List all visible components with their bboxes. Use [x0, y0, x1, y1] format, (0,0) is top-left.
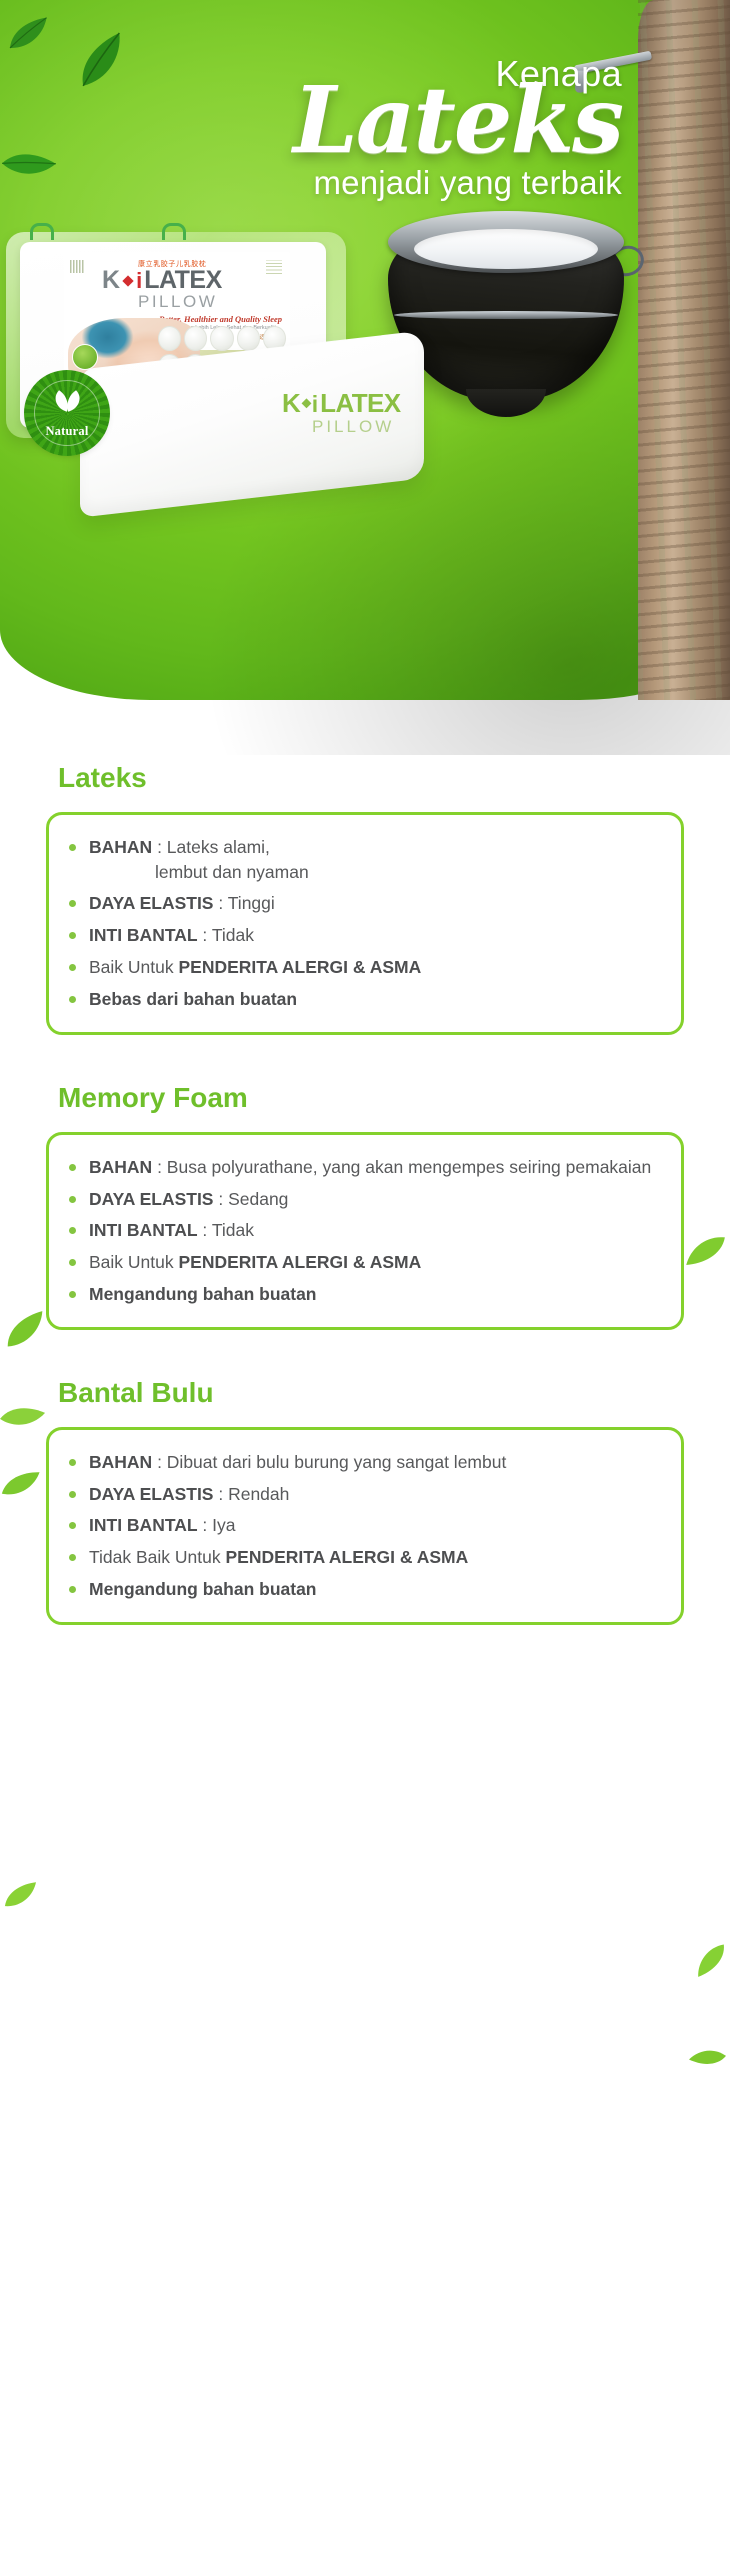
bullet-label: Mengandung bahan buatan [89, 1284, 317, 1304]
section-lateks: Lateks BAHAN : Lateks alami, lembut dan … [0, 755, 730, 1035]
brand-diamond-icon [122, 275, 133, 286]
pillow-brand-diamond-icon [301, 398, 311, 408]
feature-badge-icon [210, 326, 233, 351]
bullet-label: DAYA ELASTIS [89, 1484, 213, 1504]
list-item: DAYA ELASTIS : Tinggi [63, 891, 661, 916]
label-brand-lockup: K i LATEX [102, 268, 222, 293]
bullet-sep: : [152, 1452, 167, 1472]
leaf-icon [687, 2039, 729, 2074]
bullet-value: Sedang [228, 1189, 288, 1209]
bullet-sep: : [198, 925, 212, 945]
bullet-value: Tidak [212, 1220, 254, 1240]
bullet-emphasis: PENDERITA ALERGI & ASMA [178, 957, 421, 977]
bullet-sep: : [198, 1515, 213, 1535]
bullet-list-memory-foam: BAHAN : Busa polyurathane, yang akan men… [63, 1155, 661, 1307]
natural-seal-badge: Natural [28, 374, 106, 452]
bullet-emphasis: PENDERITA ALERGI & ASMA [226, 1547, 469, 1567]
list-item: Mengandung bahan buatan [63, 1282, 661, 1307]
brand-letter-i: i [136, 270, 142, 292]
list-item: INTI BANTAL : Iya [63, 1513, 661, 1538]
hero-title-block: Kenapa Lateks menjadi yang terbaik [0, 56, 640, 201]
list-item: INTI BANTAL : Tidak [63, 1218, 661, 1243]
bullet-value: Baik Untuk [89, 957, 178, 977]
list-item: Mengandung bahan buatan [63, 1577, 661, 1602]
bullet-label: DAYA ELASTIS [89, 1189, 213, 1209]
list-item: Baik Untuk PENDERITA ALERGI & ASMA [63, 955, 661, 980]
section-title-lateks: Lateks [0, 763, 730, 794]
feature-badge-icon [184, 326, 207, 351]
section-bantal-bulu: Bantal Bulu BAHAN : Dibuat dari bulu bur… [0, 1336, 730, 1625]
list-item: Tidak Baik Untuk PENDERITA ALERGI & ASMA [63, 1545, 661, 1570]
bullet-list-lateks: BAHAN : Lateks alami, lembut dan nyaman … [63, 835, 661, 1012]
bullet-value: Lateks alami, [167, 837, 270, 857]
leaf-icon [686, 1937, 730, 1981]
card-lateks: BAHAN : Lateks alami, lembut dan nyaman … [46, 812, 684, 1035]
bullet-sep: : [198, 1220, 212, 1240]
bullet-sep: : [213, 1189, 228, 1209]
brand-letter-k: K [102, 268, 120, 293]
hero-banner: Kenapa Lateks menjadi yang terbaik 康立乳胶子… [0, 0, 730, 755]
list-item: DAYA ELASTIS : Sedang [63, 1187, 661, 1212]
list-item: BAHAN : Busa polyurathane, yang akan men… [63, 1155, 661, 1180]
bullet-value: Iya [212, 1515, 235, 1535]
bullet-value: Tinggi [228, 893, 275, 913]
list-item: Bebas dari bahan buatan [63, 987, 661, 1012]
bullet-label: DAYA ELASTIS [89, 893, 213, 913]
bullet-value-cont: lembut dan nyaman [89, 860, 661, 885]
natural-badge-label: Natural [45, 424, 88, 439]
rubber-tree-trunk [638, 0, 730, 700]
bullet-sep: : [152, 837, 167, 857]
leaf-icon [0, 1878, 43, 1913]
bullet-label: Bebas dari bahan buatan [89, 989, 297, 1009]
list-item: INTI BANTAL : Tidak [63, 923, 661, 948]
label-pattern-icon [70, 260, 85, 273]
card-bantal-bulu: BAHAN : Dibuat dari bulu burung yang san… [46, 1427, 684, 1625]
feature-badge-icon [237, 326, 260, 351]
bullet-list-bantal-bulu: BAHAN : Dibuat dari bulu burung yang san… [63, 1450, 661, 1602]
bullet-sep: : [213, 893, 227, 913]
bowl-band [394, 311, 618, 319]
pillow-brand-i: i [311, 393, 317, 416]
bullet-label: BAHAN [89, 1452, 152, 1472]
label-grid-icon [266, 260, 282, 274]
bullet-label: INTI BANTAL [89, 1220, 198, 1240]
bullet-value: Baik Untuk [89, 1252, 178, 1272]
pillow-brand-k: K [282, 390, 301, 416]
section-title-bantal-bulu: Bantal Bulu [0, 1378, 730, 1409]
list-item: DAYA ELASTIS : Rendah [63, 1482, 661, 1507]
bullet-value: Dibuat dari bulu burung yang sangat lemb… [167, 1452, 507, 1472]
pillow-embroidered-logo: K i LATEX PILLOW [282, 390, 400, 435]
pillow-brand-latex: LATEX [320, 390, 400, 416]
bullet-label: BAHAN [89, 1157, 152, 1177]
bullet-sep: : [213, 1484, 228, 1504]
bullet-value: Rendah [228, 1484, 289, 1504]
bullet-value: Tidak Baik Untuk [89, 1547, 226, 1567]
product-image: 康立乳胶子儿乳胶枕 K i LATEX PILLOW Better, Healt… [6, 232, 426, 522]
feature-badge-icon [158, 326, 181, 351]
bullet-emphasis: PENDERITA ALERGI & ASMA [178, 1252, 421, 1272]
bullet-label: BAHAN [89, 837, 152, 857]
brand-word-pillow: PILLOW [138, 292, 217, 312]
bullet-label: INTI BANTAL [89, 1515, 198, 1535]
list-item: Baik Untuk PENDERITA ALERGI & ASMA [63, 1250, 661, 1275]
list-item: BAHAN : Lateks alami, lembut dan nyaman [63, 835, 661, 885]
bullet-label: INTI BANTAL [89, 925, 198, 945]
card-memory-foam: BAHAN : Busa polyurathane, yang akan men… [46, 1132, 684, 1330]
comparison-sections: Lateks BAHAN : Lateks alami, lembut dan … [0, 755, 730, 1625]
pillow-brand-pillow: PILLOW [312, 418, 400, 435]
bullet-value: Busa polyurathane, yang akan mengempes s… [167, 1157, 651, 1177]
bullet-sep: : [152, 1157, 167, 1177]
latex-milk-surface [414, 229, 598, 269]
hero-title: Lateks [0, 78, 622, 163]
section-title-memory-foam: Memory Foam [0, 1083, 730, 1114]
brand-word-latex: LATEX [144, 268, 222, 293]
bullet-label: Mengandung bahan buatan [89, 1579, 317, 1599]
eco-seal-icon [72, 344, 98, 370]
bullet-value: Tidak [212, 925, 254, 945]
leaf-icon [50, 389, 84, 413]
list-item: BAHAN : Dibuat dari bulu burung yang san… [63, 1450, 661, 1475]
section-memory-foam: Memory Foam BAHAN : Busa polyurathane, y… [0, 1041, 730, 1330]
